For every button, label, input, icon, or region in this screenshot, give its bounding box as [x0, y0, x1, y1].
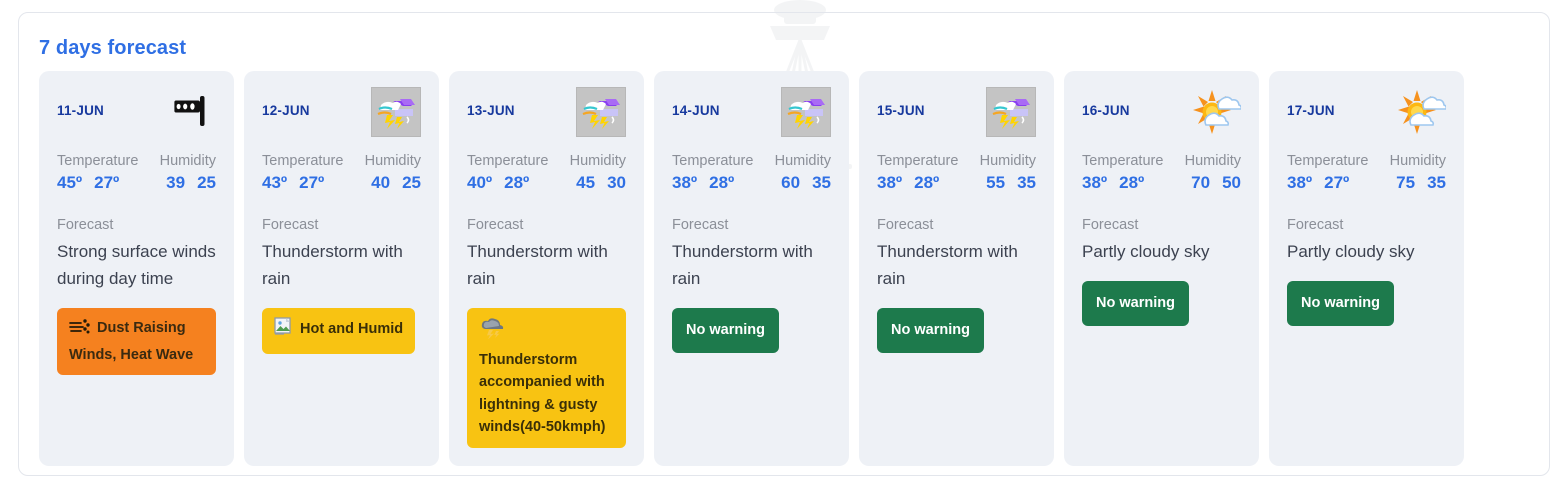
forecast-date: 17-JUN: [1287, 87, 1335, 118]
temperature-label: Temperature: [262, 153, 343, 169]
forecast-card: 11-JUN Temperature Humidity 45º 27º 39 2…: [39, 71, 234, 466]
forecast-date: 15-JUN: [877, 87, 925, 118]
humidity-label: Humidity: [980, 153, 1036, 169]
humidity-values: 40 25: [371, 173, 421, 193]
temperature-label: Temperature: [672, 153, 753, 169]
metric-values: 38º 28º 70 50: [1082, 173, 1241, 193]
temperature-max: 38º: [877, 173, 902, 193]
warning-badge[interactable]: No warning: [1287, 281, 1394, 325]
temperature-label: Temperature: [877, 153, 958, 169]
humidity-max: 60: [781, 173, 800, 193]
humidity-label: Humidity: [570, 153, 626, 169]
metric-labels: Temperature Humidity: [262, 153, 421, 169]
forecast-description: Partly cloudy sky: [1082, 238, 1241, 265]
humidity-min: 35: [1017, 173, 1036, 193]
temperature-max: 45º: [57, 173, 82, 193]
forecast-page: सत्यमेव जयते 7 days forecast 11-JUN Temp…: [0, 0, 1566, 493]
temperature-min: 27º: [299, 173, 324, 193]
warning-badge-label: Hot and Humid: [300, 321, 403, 337]
temperature-values: 43º 27º: [262, 173, 324, 193]
forecast-date: 12-JUN: [262, 87, 310, 118]
forecast-date: 14-JUN: [672, 87, 720, 118]
card-header: 16-JUN: [1082, 87, 1241, 137]
temperature-label: Temperature: [467, 153, 548, 169]
forecast-card: 15-JUN Temperature Humidity 38º 28º 55 3…: [859, 71, 1054, 466]
temperature-values: 38º 28º: [672, 173, 734, 193]
sun-behind-cloud-icon: [1191, 87, 1241, 137]
forecast-description: Thunderstorm with rain: [467, 238, 626, 292]
metric-values: 45º 27º 39 25: [57, 173, 216, 193]
forecast-card: 13-JUN Temperature Humidity 40º 28º 45 3…: [449, 71, 644, 466]
warning-badge[interactable]: Dust Raising Winds, Heat Wave: [57, 308, 216, 375]
metric-labels: Temperature Humidity: [1082, 153, 1241, 169]
humidity-label: Humidity: [365, 153, 421, 169]
warning-badge[interactable]: No warning: [1082, 281, 1189, 325]
metric-values: 43º 27º 40 25: [262, 173, 421, 193]
card-header: 11-JUN: [57, 87, 216, 137]
metric-values: 38º 28º 60 35: [672, 173, 831, 193]
temperature-min: 28º: [709, 173, 734, 193]
humidity-values: 55 35: [986, 173, 1036, 193]
warning-badge-label: No warning: [891, 322, 970, 338]
forecast-panel: 7 days forecast 11-JUN Temperature Humid…: [18, 12, 1550, 476]
humidity-min: 35: [1427, 173, 1446, 193]
humidity-label: Humidity: [160, 153, 216, 169]
broken-image-icon: [274, 317, 294, 344]
warning-badge-label: No warning: [1096, 295, 1175, 311]
forecast-card: 17-JUN Temperature Humidity 38º 27º: [1269, 71, 1464, 466]
card-header: 17-JUN: [1287, 87, 1446, 137]
forecast-card: 14-JUN Temperature Humidity 38º 28º 60 3…: [654, 71, 849, 466]
humidity-label: Humidity: [1185, 153, 1241, 169]
card-header: 14-JUN: [672, 87, 831, 137]
humidity-max: 45: [576, 173, 595, 193]
temperature-max: 40º: [467, 173, 492, 193]
warning-badge[interactable]: No warning: [877, 308, 984, 352]
forecast-label: Forecast: [57, 217, 216, 233]
humidity-max: 55: [986, 173, 1005, 193]
humidity-max: 70: [1191, 173, 1210, 193]
forecast-label: Forecast: [262, 217, 421, 233]
thunderstorm-rain-icon: [371, 87, 421, 137]
temperature-max: 43º: [262, 173, 287, 193]
temperature-label: Temperature: [57, 153, 138, 169]
temperature-min: 28º: [504, 173, 529, 193]
humidity-values: 70 50: [1191, 173, 1241, 193]
temperature-min: 27º: [94, 173, 119, 193]
temperature-values: 38º 27º: [1287, 173, 1349, 193]
temperature-max: 38º: [672, 173, 697, 193]
temperature-min: 28º: [914, 173, 939, 193]
forecast-card: 12-JUN Temperature Humidity 43º 27º 40 2…: [244, 71, 439, 466]
metric-labels: Temperature Humidity: [877, 153, 1036, 169]
temperature-min: 27º: [1324, 173, 1349, 193]
temperature-max: 38º: [1287, 173, 1312, 193]
forecast-description: Strong surface winds during day time: [57, 238, 216, 292]
forecast-card: 16-JUN Temperature Humidity 38º 28º: [1064, 71, 1259, 466]
forecast-description: Thunderstorm with rain: [262, 238, 421, 292]
metric-labels: Temperature Humidity: [467, 153, 626, 169]
forecast-date: 13-JUN: [467, 87, 515, 118]
forecast-description: Thunderstorm with rain: [877, 238, 1036, 292]
thundercloud-icon: [479, 317, 608, 346]
forecast-label: Forecast: [877, 217, 1036, 233]
humidity-min: 30: [607, 173, 626, 193]
metric-values: 40º 28º 45 30: [467, 173, 626, 193]
humidity-max: 40: [371, 173, 390, 193]
warning-badge-label: No warning: [1301, 295, 1380, 311]
humidity-label: Humidity: [775, 153, 831, 169]
sun-behind-cloud-icon: [1396, 87, 1446, 137]
warning-badge[interactable]: Hot and Humid: [262, 308, 415, 353]
humidity-min: 25: [197, 173, 216, 193]
temperature-label: Temperature: [1287, 153, 1368, 169]
metric-labels: Temperature Humidity: [672, 153, 831, 169]
warning-badge[interactable]: No warning: [672, 308, 779, 352]
card-header: 12-JUN: [262, 87, 421, 137]
windsock-icon: [166, 87, 216, 137]
temperature-values: 40º 28º: [467, 173, 529, 193]
metric-values: 38º 28º 55 35: [877, 173, 1036, 193]
temperature-values: 38º 28º: [1082, 173, 1144, 193]
temperature-min: 28º: [1119, 173, 1144, 193]
metric-labels: Temperature Humidity: [1287, 153, 1446, 169]
metric-labels: Temperature Humidity: [57, 153, 216, 169]
forecast-description: Partly cloudy sky: [1287, 238, 1446, 265]
temperature-label: Temperature: [1082, 153, 1163, 169]
humidity-label: Humidity: [1390, 153, 1446, 169]
humidity-values: 75 35: [1396, 173, 1446, 193]
forecast-label: Forecast: [467, 217, 626, 233]
humidity-values: 39 25: [166, 173, 216, 193]
thunderstorm-rain-icon: [576, 87, 626, 137]
warning-badge-label: No warning: [686, 322, 765, 338]
metric-values: 38º 27º 75 35: [1287, 173, 1446, 193]
temperature-values: 38º 28º: [877, 173, 939, 193]
temperature-values: 45º 27º: [57, 173, 119, 193]
thunderstorm-rain-icon: [986, 87, 1036, 137]
warning-badge-label: Thunderstorm accompanied with lightning …: [479, 352, 606, 435]
warning-badge[interactable]: Thunderstorm accompanied with lightning …: [467, 308, 626, 447]
thunderstorm-rain-icon: [781, 87, 831, 137]
humidity-values: 45 30: [576, 173, 626, 193]
humidity-min: 25: [402, 173, 421, 193]
forecast-date: 11-JUN: [57, 87, 104, 118]
forecast-card-list: 11-JUN Temperature Humidity 45º 27º 39 2…: [39, 71, 1531, 466]
card-header: 13-JUN: [467, 87, 626, 137]
temperature-max: 38º: [1082, 173, 1107, 193]
dust-wind-icon: [69, 318, 91, 343]
panel-title: 7 days forecast: [39, 37, 186, 60]
card-header: 15-JUN: [877, 87, 1036, 137]
humidity-min: 50: [1222, 173, 1241, 193]
forecast-label: Forecast: [672, 217, 831, 233]
forecast-label: Forecast: [1287, 217, 1446, 233]
humidity-max: 75: [1396, 173, 1415, 193]
humidity-values: 60 35: [781, 173, 831, 193]
forecast-description: Thunderstorm with rain: [672, 238, 831, 292]
forecast-label: Forecast: [1082, 217, 1241, 233]
humidity-min: 35: [812, 173, 831, 193]
humidity-max: 39: [166, 173, 185, 193]
forecast-date: 16-JUN: [1082, 87, 1130, 118]
